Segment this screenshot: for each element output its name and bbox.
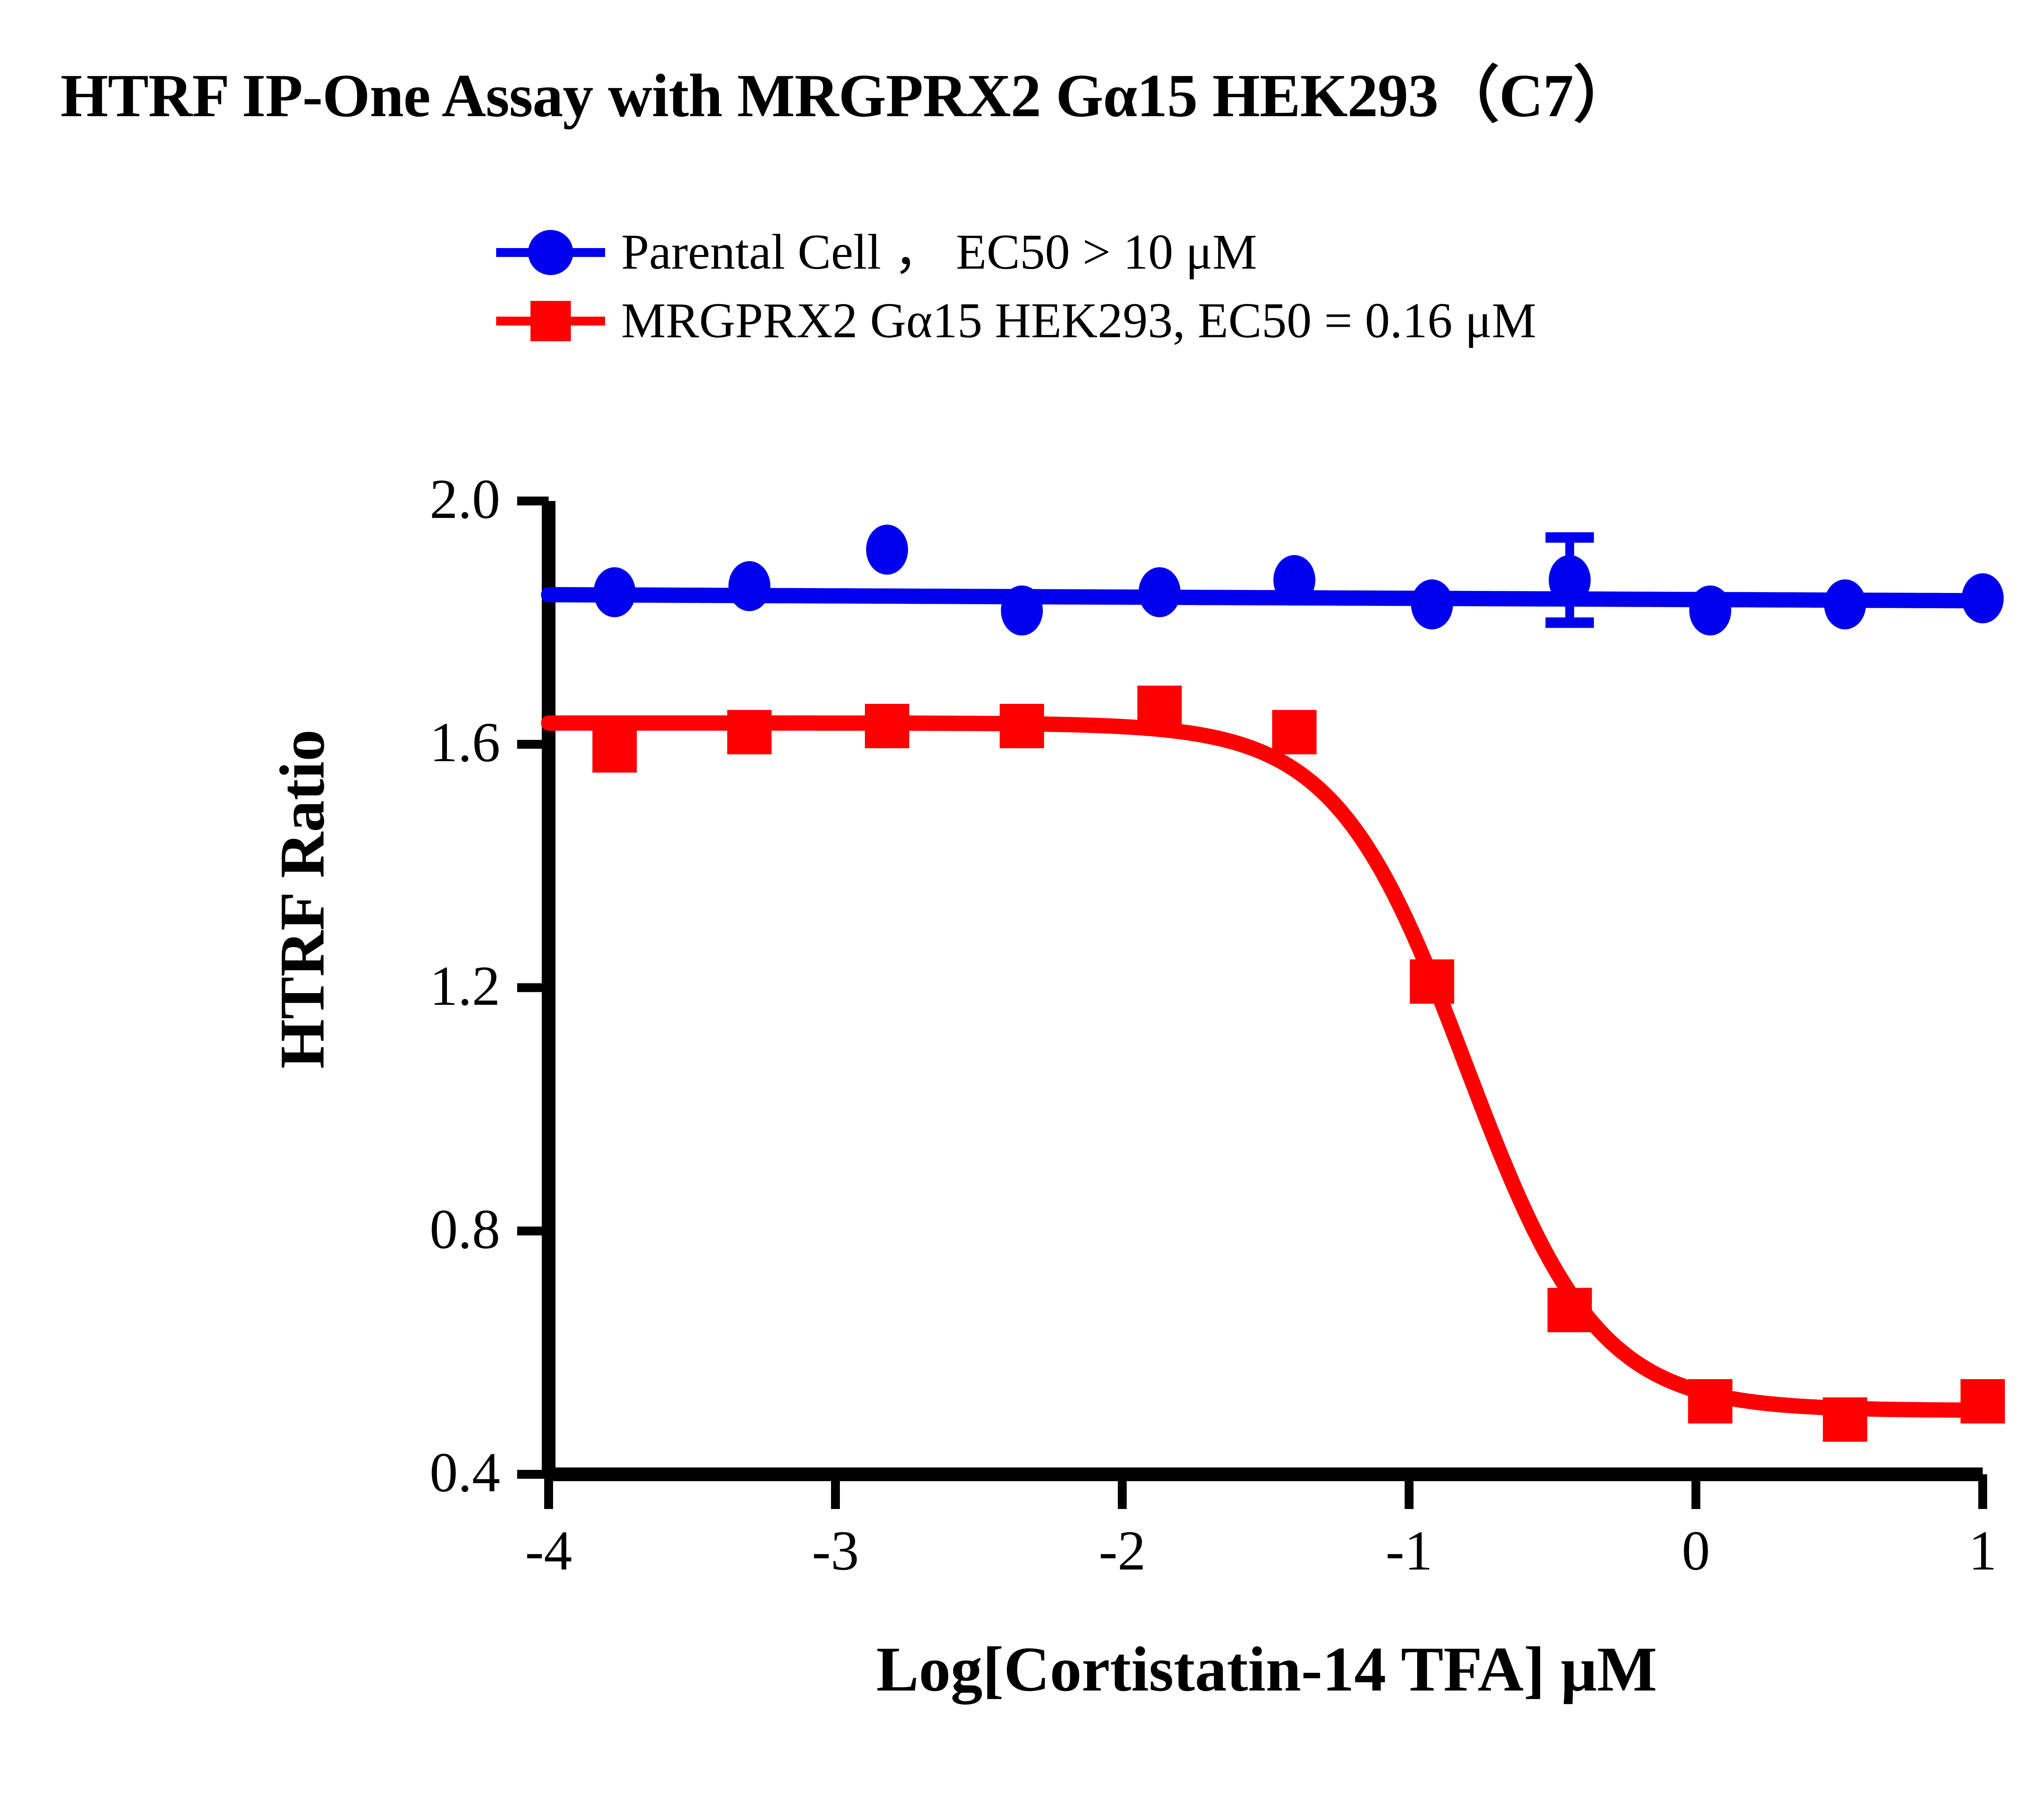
data-point-series-1-index-3[interactable] (1000, 704, 1044, 748)
x-tick-label-3: -1 (1349, 1523, 1470, 1579)
y-tick-label-2: 1.2 (331, 958, 500, 1014)
data-point-series-0-index-1[interactable] (729, 561, 770, 611)
fit-curve-series-1 (549, 723, 1983, 1411)
data-point-series-1-index-8[interactable] (1688, 1379, 1733, 1423)
y-tick-label-0: 2.0 (331, 471, 500, 528)
data-point-series-0-index-10[interactable] (1962, 573, 2004, 623)
x-tick-label-2: -2 (1062, 1523, 1183, 1579)
y-tick-label-3: 0.8 (331, 1201, 500, 1258)
data-point-series-0-index-2[interactable] (866, 525, 908, 575)
x-tick-label-1: -3 (775, 1523, 896, 1579)
x-tick-label-4: 0 (1635, 1523, 1756, 1579)
x-tick-label-5: 1 (1922, 1523, 2017, 1579)
figure-root: HTRF IP-One Assay with MRGPRX2 Gα15 HEK2… (0, 0, 2017, 1820)
data-point-series-0-index-4[interactable] (1138, 567, 1180, 617)
data-point-series-1-index-0[interactable] (593, 728, 637, 772)
y-tick-label-4: 0.4 (331, 1444, 500, 1501)
data-point-series-0-index-9[interactable] (1824, 579, 1866, 629)
y-tick-label-1: 1.6 (331, 714, 500, 771)
data-point-series-1-index-9[interactable] (1823, 1397, 1867, 1442)
data-point-series-1-index-4[interactable] (1137, 686, 1182, 730)
data-point-series-1-index-10[interactable] (1961, 1379, 2005, 1423)
data-point-series-0-index-8[interactable] (1689, 585, 1731, 635)
data-point-series-1-index-1[interactable] (727, 710, 772, 754)
data-point-series-0-index-6[interactable] (1411, 579, 1453, 629)
y-axis-title: HTRF Ratio (271, 576, 334, 1222)
data-point-series-1-index-7[interactable] (1547, 1288, 1592, 1332)
data-point-series-1-index-5[interactable] (1272, 710, 1317, 754)
data-point-series-0-index-7[interactable] (1549, 555, 1591, 605)
data-point-series-0-index-0[interactable] (594, 567, 636, 617)
x-tick-label-0: -4 (488, 1523, 609, 1579)
x-axis-title: Log[Cortistatin-14 TFA] μM (549, 1638, 1985, 1701)
data-point-series-0-index-3[interactable] (1001, 585, 1043, 635)
data-point-series-0-index-5[interactable] (1274, 555, 1315, 605)
data-point-series-1-index-6[interactable] (1410, 959, 1454, 1004)
data-point-series-1-index-2[interactable] (865, 704, 909, 748)
